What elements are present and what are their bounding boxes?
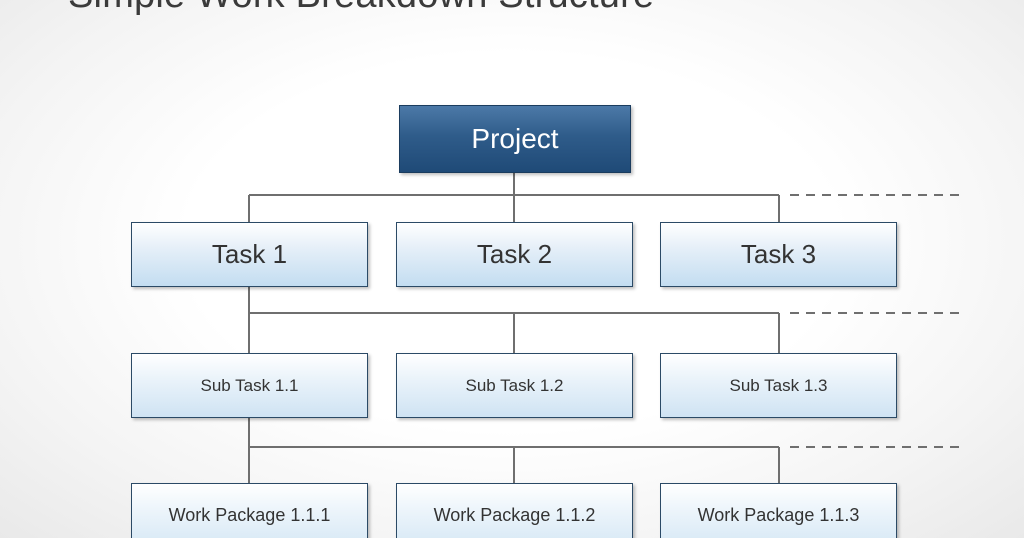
node-label: Sub Task 1.2 xyxy=(466,376,564,396)
node-sub-task-1-1[interactable]: Sub Task 1.1 xyxy=(131,353,368,418)
node-label: Work Package 1.1.2 xyxy=(434,505,596,526)
node-label: Sub Task 1.3 xyxy=(730,376,828,396)
node-label: Work Package 1.1.3 xyxy=(698,505,860,526)
node-sub-task-1-2[interactable]: Sub Task 1.2 xyxy=(396,353,633,418)
node-task-2[interactable]: Task 2 xyxy=(396,222,633,287)
node-project[interactable]: Project xyxy=(399,105,631,173)
node-label: Project xyxy=(471,123,558,155)
node-task-1[interactable]: Task 1 xyxy=(131,222,368,287)
node-work-package-1-1-1[interactable]: Work Package 1.1.1 xyxy=(131,483,368,538)
node-work-package-1-1-3[interactable]: Work Package 1.1.3 xyxy=(660,483,897,538)
node-label: Work Package 1.1.1 xyxy=(169,505,331,526)
node-label: Task 2 xyxy=(477,239,552,270)
node-label: Task 3 xyxy=(741,239,816,270)
node-task-3[interactable]: Task 3 xyxy=(660,222,897,287)
node-work-package-1-1-2[interactable]: Work Package 1.1.2 xyxy=(396,483,633,538)
node-label: Sub Task 1.1 xyxy=(201,376,299,396)
slide-canvas: Simple Work Breakdown Structure Project … xyxy=(0,0,1024,538)
node-sub-task-1-3[interactable]: Sub Task 1.3 xyxy=(660,353,897,418)
node-label: Task 1 xyxy=(212,239,287,270)
